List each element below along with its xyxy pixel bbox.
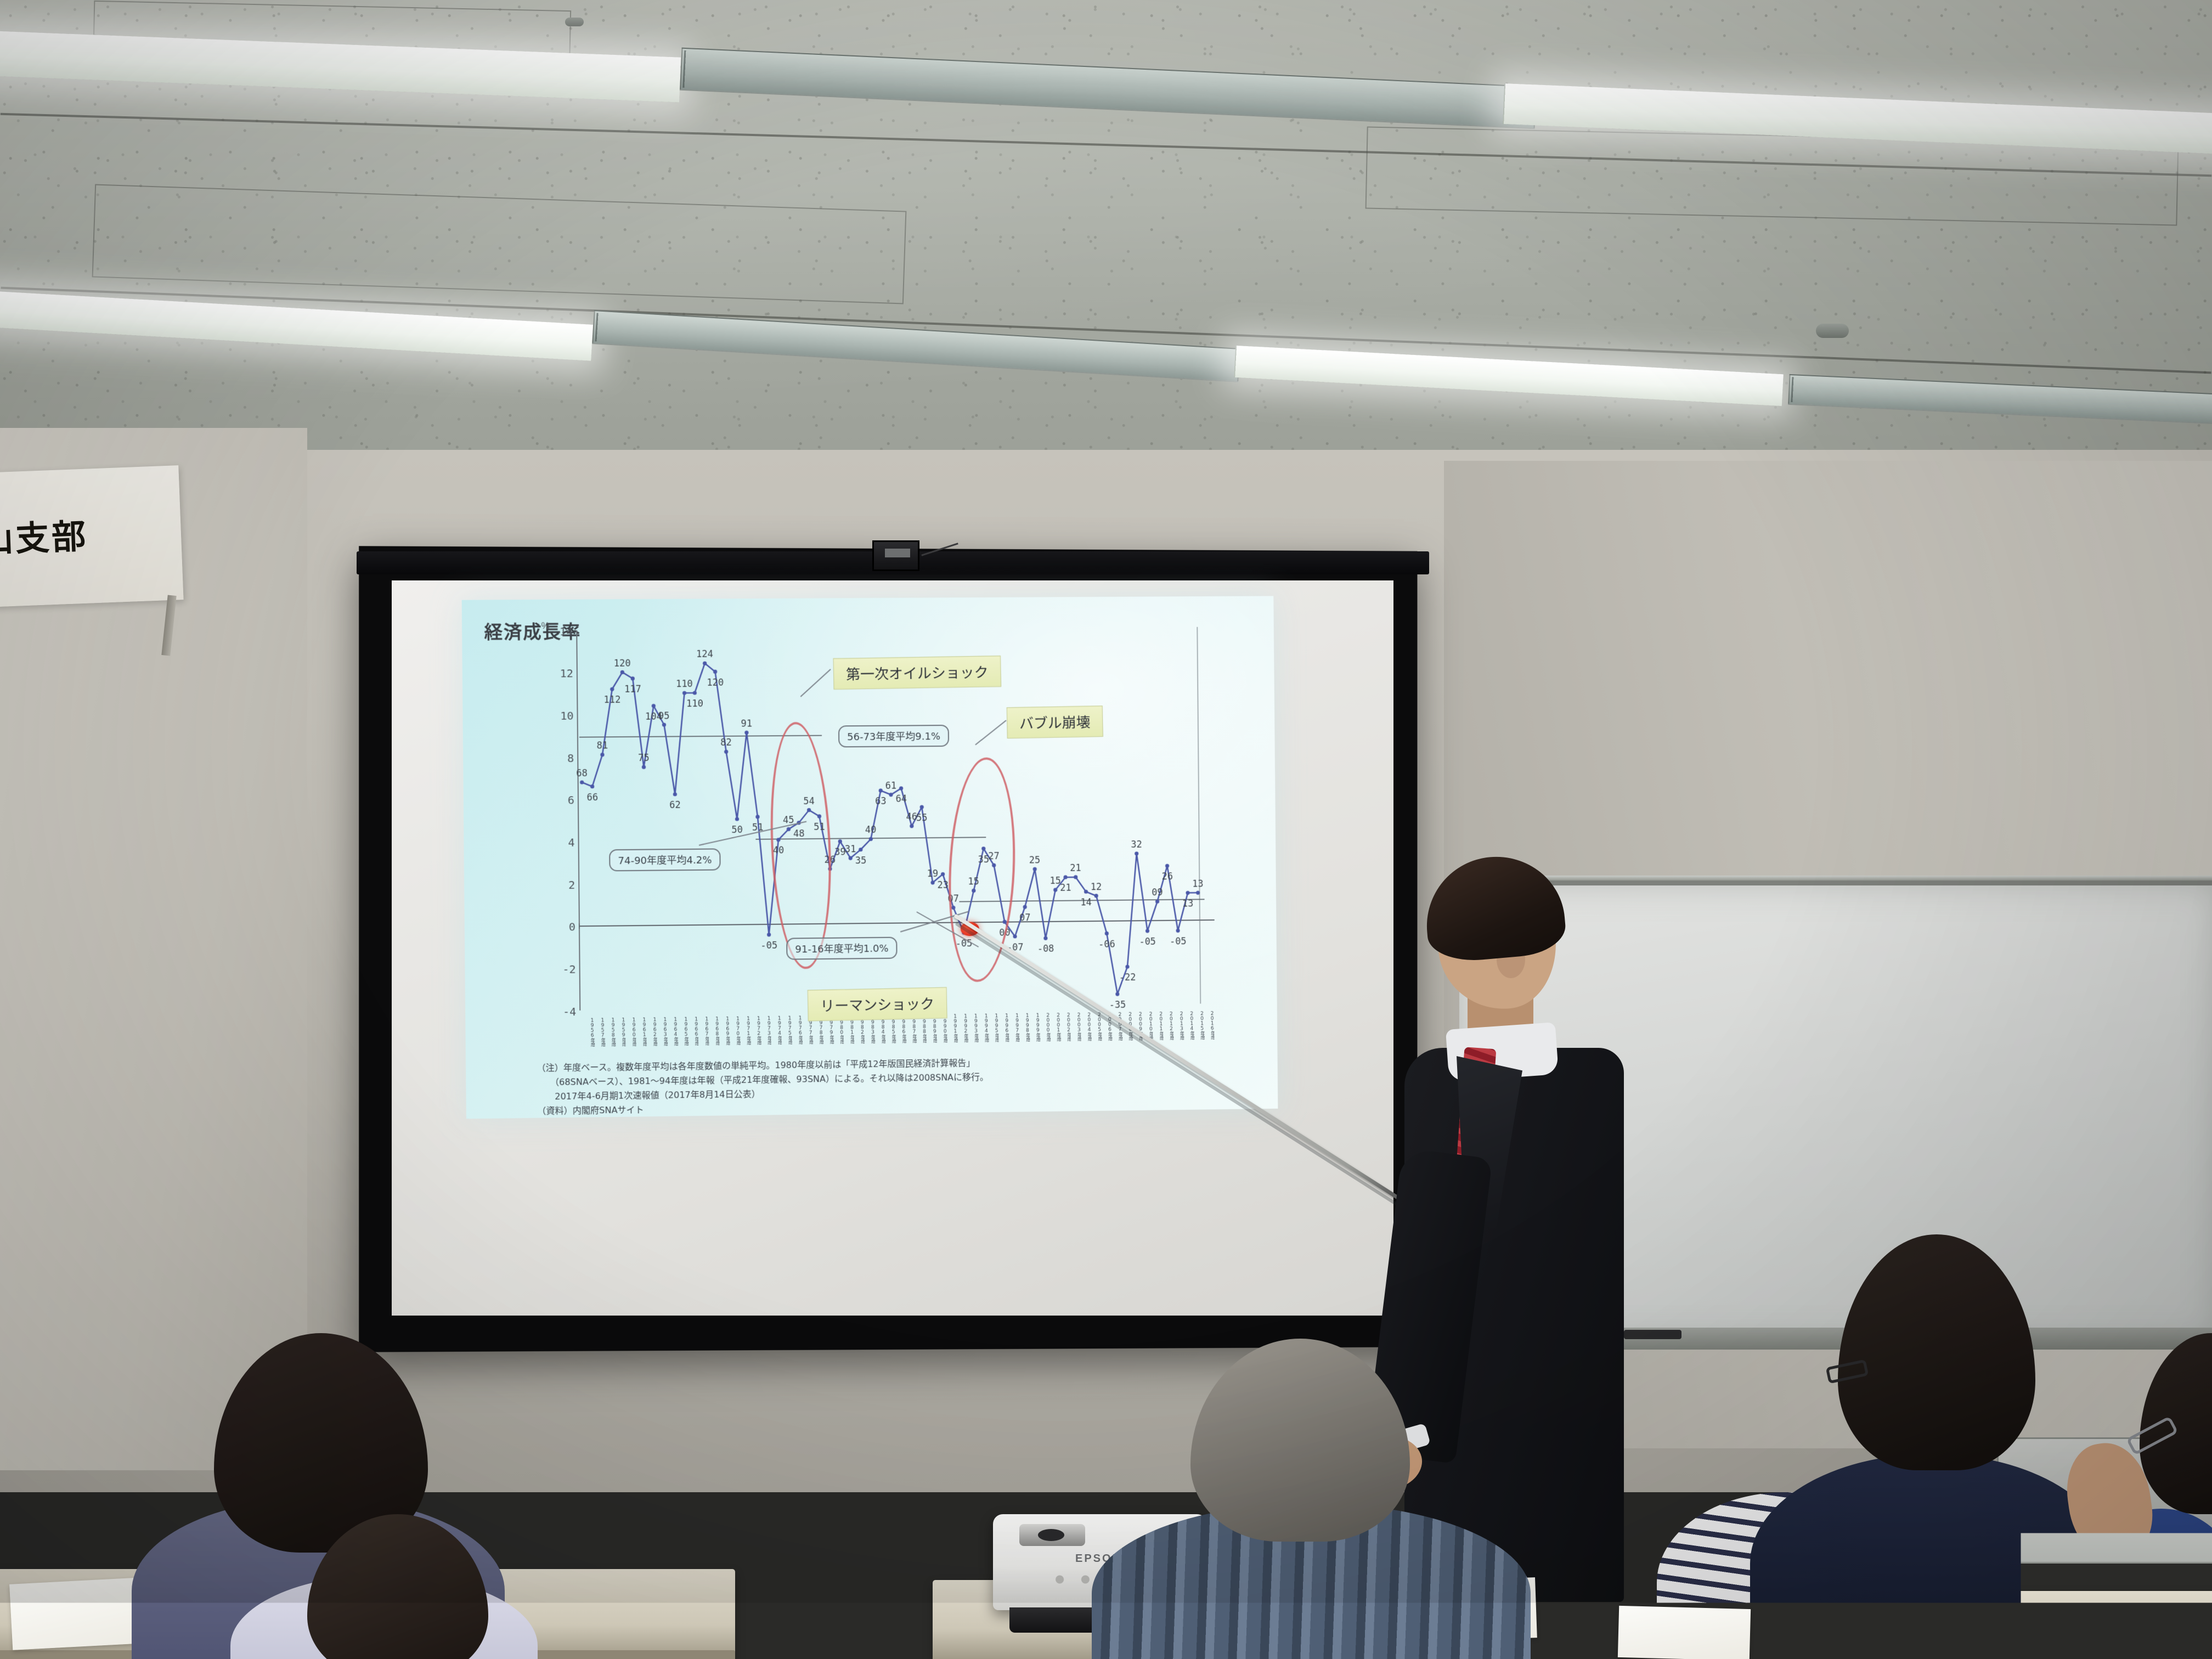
ceiling xyxy=(0,0,2212,483)
x-axis-tick-label: 1999年度 xyxy=(1030,1013,1040,1042)
lecture-room-scene: 山支部 経済成長率 % 14 12 10 8 6 4 2 0 -2 -4 xyxy=(0,0,2212,1659)
average-box-1991-2016: 91-16年度平均1.0% xyxy=(786,937,898,960)
series-data-label: 21 xyxy=(1070,863,1081,874)
series-data-label: 110 xyxy=(686,698,703,709)
series-data-label: 91 xyxy=(741,718,752,729)
x-axis-tick-label: 2002年度 xyxy=(1060,1013,1071,1041)
callout-bubble-collapse: バブル崩壊 xyxy=(1007,706,1103,738)
x-axis-tick-label: 2013年度 xyxy=(1173,1012,1184,1040)
x-axis-tick-label: 1960年度 xyxy=(625,1018,636,1046)
x-axis-tick-label: 1995年度 xyxy=(989,1013,999,1042)
x-axis-tick-label: 1973年度 xyxy=(761,1016,771,1045)
series-data-label: 68 xyxy=(576,768,588,779)
x-axis-tick-label: 2016年度 xyxy=(1204,1011,1215,1040)
smoke-detector-icon xyxy=(1816,324,1849,338)
series-data-label: 09 xyxy=(1152,887,1163,898)
presenter-hair xyxy=(1421,851,1567,964)
series-data-label: 61 xyxy=(885,780,897,791)
x-axis-tick-label: 2000年度 xyxy=(1040,1013,1050,1041)
series-data-label: 64 xyxy=(895,794,907,805)
series-data-label: 46 xyxy=(906,812,917,823)
x-axis-tick-label: 1956年度 xyxy=(584,1018,594,1047)
x-axis-tick-label: 2012年度 xyxy=(1163,1012,1173,1040)
x-axis-tick-label: 2003年度 xyxy=(1071,1013,1081,1041)
projector-lens-icon xyxy=(1019,1524,1085,1546)
series-data-label: 25 xyxy=(1029,855,1041,866)
series-data-label: 23 xyxy=(937,879,949,890)
projected-slide: 経済成長率 % 14 12 10 8 6 4 2 0 -2 -4 6866811… xyxy=(462,596,1278,1119)
x-axis-tick-label: 1970年度 xyxy=(730,1017,740,1045)
x-axis-tick-label: 1975年度 xyxy=(782,1016,792,1045)
x-axis-tick-label: 1972年度 xyxy=(751,1016,761,1045)
x-axis-tick-label: 1994年度 xyxy=(978,1014,989,1042)
audience-hair xyxy=(307,1514,488,1659)
series-data-label: -08 xyxy=(1037,944,1054,955)
series-data-label: 120 xyxy=(707,677,724,688)
audience-member-far-right xyxy=(2063,1344,2212,1659)
series-data-label: 21 xyxy=(1060,883,1071,894)
x-axis-tick-label: 2015年度 xyxy=(1194,1011,1204,1040)
series-data-label: 62 xyxy=(669,800,681,811)
smoke-detector-icon xyxy=(565,18,584,26)
audience-member-front-right-vest xyxy=(1772,1234,2079,1659)
x-axis-tick-label: 1963年度 xyxy=(657,1017,667,1046)
series-data-label: 81 xyxy=(596,741,608,752)
series-data-label: -05 xyxy=(1139,936,1156,947)
series-data-label: 32 xyxy=(1131,839,1142,850)
series-data-label: -35 xyxy=(1109,1000,1126,1011)
screen-mount-bracket xyxy=(872,540,919,571)
x-axis-tick-label: 1996年度 xyxy=(998,1013,1009,1042)
series-data-label: 14 xyxy=(1080,897,1092,908)
x-axis-tick-label: 1962年度 xyxy=(646,1017,657,1046)
x-axis-tick-label: 1969年度 xyxy=(719,1017,730,1045)
series-data-label: 12 xyxy=(1091,882,1102,893)
series-data-label: 50 xyxy=(731,825,743,836)
x-axis-tick-label: 1974年度 xyxy=(771,1016,782,1045)
x-axis-tick-label: 1961年度 xyxy=(636,1018,646,1046)
series-data-label: 31 xyxy=(845,844,856,855)
callout-first-oil-shock: 第一次オイルショック xyxy=(833,656,1002,690)
series-data-label: 112 xyxy=(603,695,620,706)
average-box-1956-1973: 56-73年度平均9.1% xyxy=(838,725,949,747)
series-data-label: 82 xyxy=(720,737,732,748)
x-axis-tick-label: 1971年度 xyxy=(740,1016,751,1045)
series-data-label: -22 xyxy=(1119,972,1136,983)
x-axis-tick-label: 2004年度 xyxy=(1081,1013,1091,1041)
x-axis-tick-label: 1964年度 xyxy=(667,1017,678,1046)
series-data-label: 95 xyxy=(658,710,670,721)
series-data-label: 07 xyxy=(1019,912,1031,923)
x-axis-tick-label: 1957年度 xyxy=(594,1018,605,1046)
audience-shoulders xyxy=(1750,1454,2112,1659)
x-axis-tick-label: 1965年度 xyxy=(678,1017,688,1046)
series-data-label: 13 xyxy=(1192,878,1203,889)
x-axis-tick-label: 1966年度 xyxy=(688,1017,698,1046)
x-axis-tick-label: 1992年度 xyxy=(957,1014,968,1042)
series-data-label: 110 xyxy=(676,679,693,690)
x-axis-tick-label: 1998年度 xyxy=(1019,1013,1030,1042)
x-axis-tick-label: 2014年度 xyxy=(1184,1012,1194,1040)
audience-hair xyxy=(1190,1339,1410,1542)
audience-hair xyxy=(2140,1333,2212,1514)
series-data-label: 75 xyxy=(638,753,650,764)
series-data-label: 35 xyxy=(855,855,867,866)
series-data-label: 26 xyxy=(1161,871,1172,882)
series-data-label: 13 xyxy=(1182,898,1193,909)
x-axis-tick-label: 1968年度 xyxy=(709,1017,719,1045)
audience-member-front-center xyxy=(1141,1339,1481,1659)
x-axis-tick-label: 1991年度 xyxy=(947,1014,957,1042)
x-axis-tick-label: 1967年度 xyxy=(698,1017,709,1045)
series-data-label: -05 xyxy=(1170,936,1187,947)
x-axis-tick-label: 1958年度 xyxy=(605,1018,615,1046)
series-data-label: 15 xyxy=(1049,876,1061,887)
series-data-label: 19 xyxy=(927,868,939,879)
audience-hair xyxy=(1838,1234,2035,1470)
series-data-label: 40 xyxy=(865,825,877,836)
series-data-label: -06 xyxy=(1098,939,1115,950)
wall-banner: 山支部 xyxy=(0,465,184,607)
average-box-1974-1990: 74-90年度平均4.2% xyxy=(609,848,721,871)
series-data-label: -05 xyxy=(760,940,777,951)
audience-member-front-left-lower xyxy=(230,1531,538,1659)
series-data-label: 39 xyxy=(834,847,846,858)
series-data-label: 55 xyxy=(916,812,928,823)
series-data-label: 66 xyxy=(586,792,598,803)
series-data-label: 124 xyxy=(696,649,713,660)
wall-banner-text: 山支部 xyxy=(0,505,166,562)
x-axis-tick-label: 2001年度 xyxy=(1050,1013,1060,1041)
callout-lehman-shock: リーマンショック xyxy=(808,987,947,1021)
x-axis-tick-label: 1959年度 xyxy=(615,1018,625,1046)
x-axis-tick-label: 1997年度 xyxy=(1009,1013,1019,1042)
series-data-label: 120 xyxy=(614,658,631,669)
series-data-label: 63 xyxy=(875,796,887,807)
x-axis-tick-label: 1976年度 xyxy=(792,1015,803,1044)
x-axis-tick-label: 2011年度 xyxy=(1153,1012,1163,1040)
x-axis-tick-label: 1993年度 xyxy=(968,1014,978,1042)
series-data-label: 117 xyxy=(624,684,641,695)
